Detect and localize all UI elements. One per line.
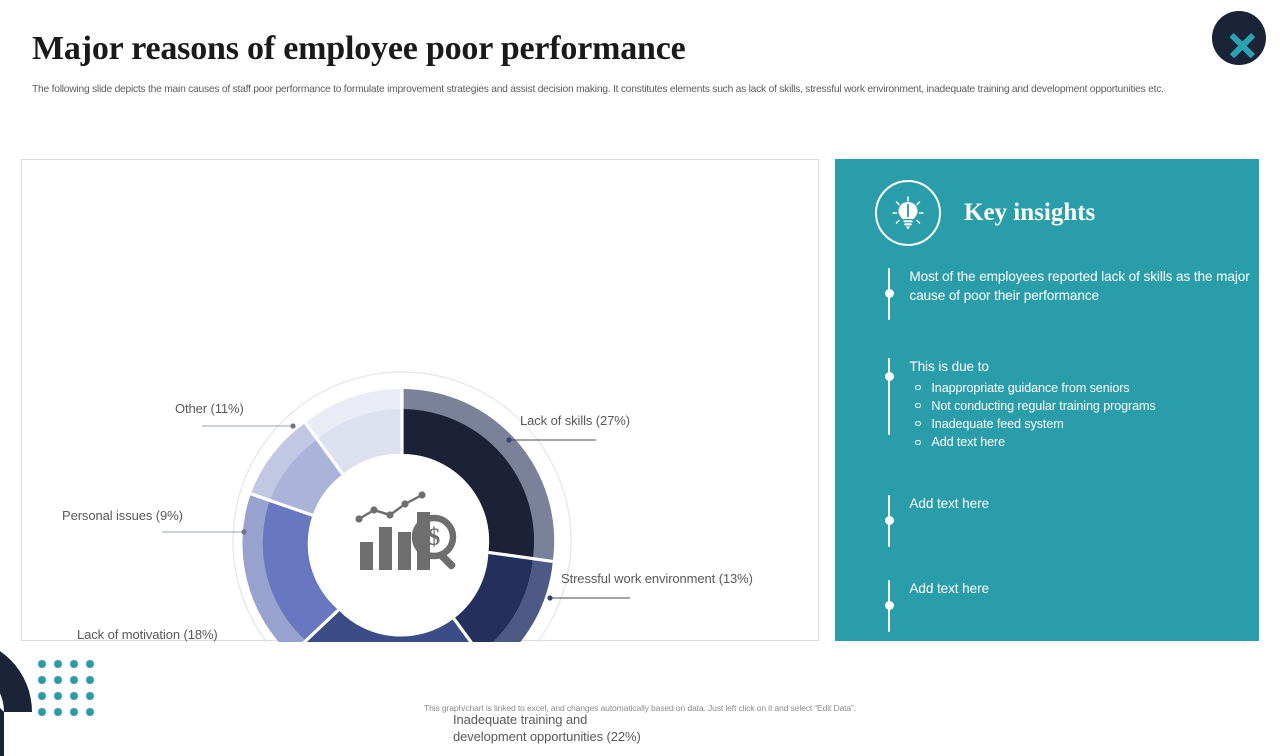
- page-title: Major reasons of employee poor performan…: [32, 30, 686, 68]
- key-insights-header: Key insights: [875, 180, 1095, 246]
- insight-bullet-dot: [885, 601, 894, 610]
- insight-body: Add text here: [909, 495, 989, 547]
- insight-item[interactable]: Add text here: [888, 495, 989, 547]
- insight-bullet-dot: [885, 516, 894, 525]
- slice-label-other: Other (11%): [175, 400, 244, 417]
- insight-subitem: Inadequate feed system: [909, 415, 1155, 433]
- insight-heading: This is due to: [909, 358, 1155, 377]
- insight-body: Add text here: [909, 580, 989, 632]
- close-icon: [1225, 28, 1259, 62]
- insight-bar: [888, 268, 890, 320]
- insight-heading: Add text here: [909, 495, 989, 514]
- lightbulb-icon: [875, 180, 941, 246]
- decorative-dot-grid: [38, 660, 102, 724]
- svg-text:$: $: [428, 524, 441, 551]
- slice-label-inadequate-training: Inadequate training and development oppo…: [453, 711, 641, 745]
- insight-item[interactable]: This is due to Inappropriate guidance fr…: [888, 358, 1156, 451]
- footer-note: This graph/chart is linked to excel, and…: [0, 703, 1280, 713]
- insight-body: This is due to Inappropriate guidance fr…: [909, 358, 1155, 451]
- insight-heading: Most of the employees reported lack of s…: [909, 268, 1259, 305]
- slice-label-stressful-work-environment: Stressful work environment (13%): [561, 570, 753, 587]
- insight-subitem: Add text here: [909, 433, 1155, 451]
- insight-bullet-dot: [885, 372, 894, 381]
- insight-bar: [888, 580, 890, 632]
- slice-label-lack-of-motivation: Lack of motivation (18%): [77, 626, 218, 643]
- insight-sublist: Inappropriate guidance from seniors Not …: [909, 379, 1155, 452]
- insight-body: Most of the employees reported lack of s…: [909, 268, 1259, 320]
- page-subtitle: The following slide depicts the main cau…: [32, 83, 1244, 98]
- insight-bullet-dot: [885, 289, 894, 298]
- slice-label-lack-of-skills: Lack of skills (27%): [520, 412, 630, 429]
- donut-chart[interactable]: $ Lack of skills (27%) Str: [22, 160, 820, 642]
- slice-label-personal-issues: Personal issues (9%): [62, 507, 183, 524]
- key-insights-title: Key insights: [964, 199, 1095, 227]
- insight-item[interactable]: Add text here: [888, 580, 989, 632]
- key-insights-panel: Key insights Most of the employees repor…: [835, 159, 1259, 641]
- insight-heading: Add text here: [909, 580, 989, 599]
- insight-bar: [888, 495, 890, 547]
- chart-panel: $ Lack of skills (27%) Str: [21, 159, 819, 641]
- close-button[interactable]: [1212, 11, 1266, 65]
- insight-subitem: Inappropriate guidance from seniors: [909, 379, 1155, 397]
- insight-bar: [888, 358, 890, 435]
- insight-item[interactable]: Most of the employees reported lack of s…: [888, 268, 1259, 320]
- insight-subitem: Not conducting regular training programs: [909, 397, 1155, 415]
